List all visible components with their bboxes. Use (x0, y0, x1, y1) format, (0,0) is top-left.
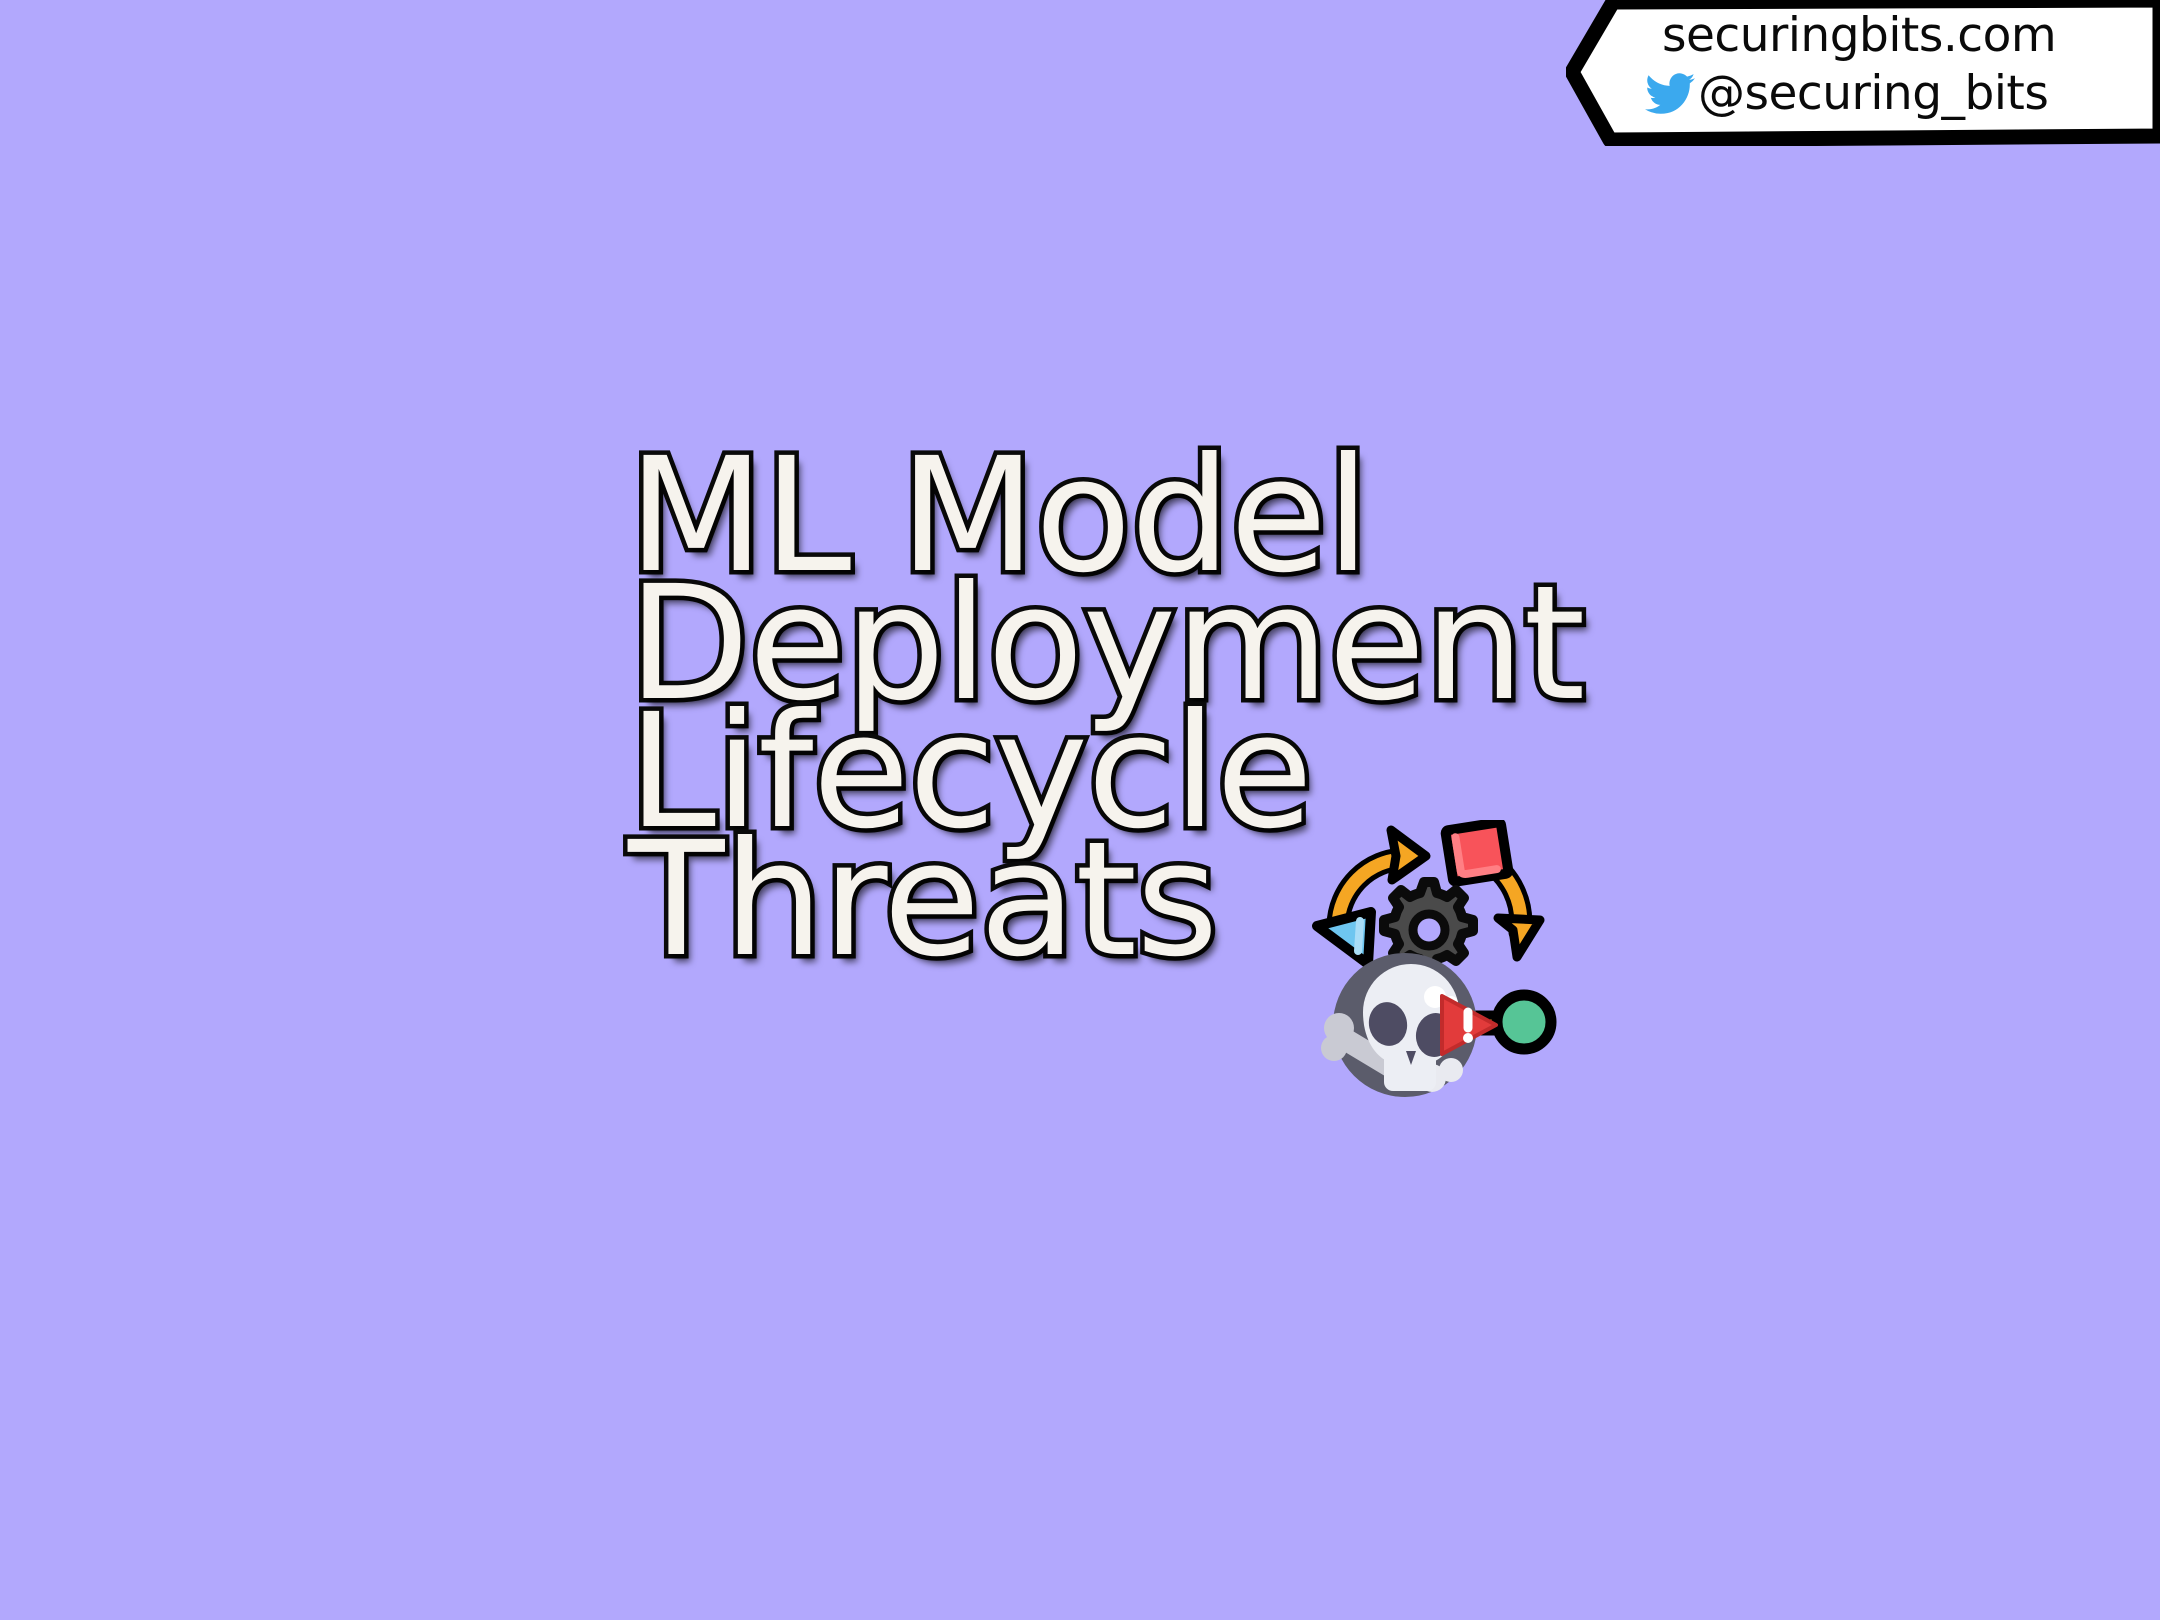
slide-canvas: ML Model Deployment Lifecycle Threats (0, 0, 2160, 1620)
red-square-icon (1445, 822, 1508, 882)
green-circle-icon (1497, 995, 1551, 1049)
twitter-bird-icon (1644, 72, 1696, 116)
badge-text: securingbits.com @securing_bits (1644, 7, 2149, 123)
badge-handle-row[interactable]: @securing_bits (1644, 65, 2149, 123)
badge-handle-label: @securing_bits (1698, 65, 2048, 123)
ml-lifecycle-threat-icons (1308, 820, 1578, 1100)
blue-triangle-icon (1317, 912, 1371, 964)
badge-website-label: securingbits.com (1662, 7, 2056, 65)
badge-website-row[interactable]: securingbits.com (1644, 7, 2149, 65)
brand-badge[interactable]: securingbits.com @securing_bits (1566, 0, 2160, 146)
